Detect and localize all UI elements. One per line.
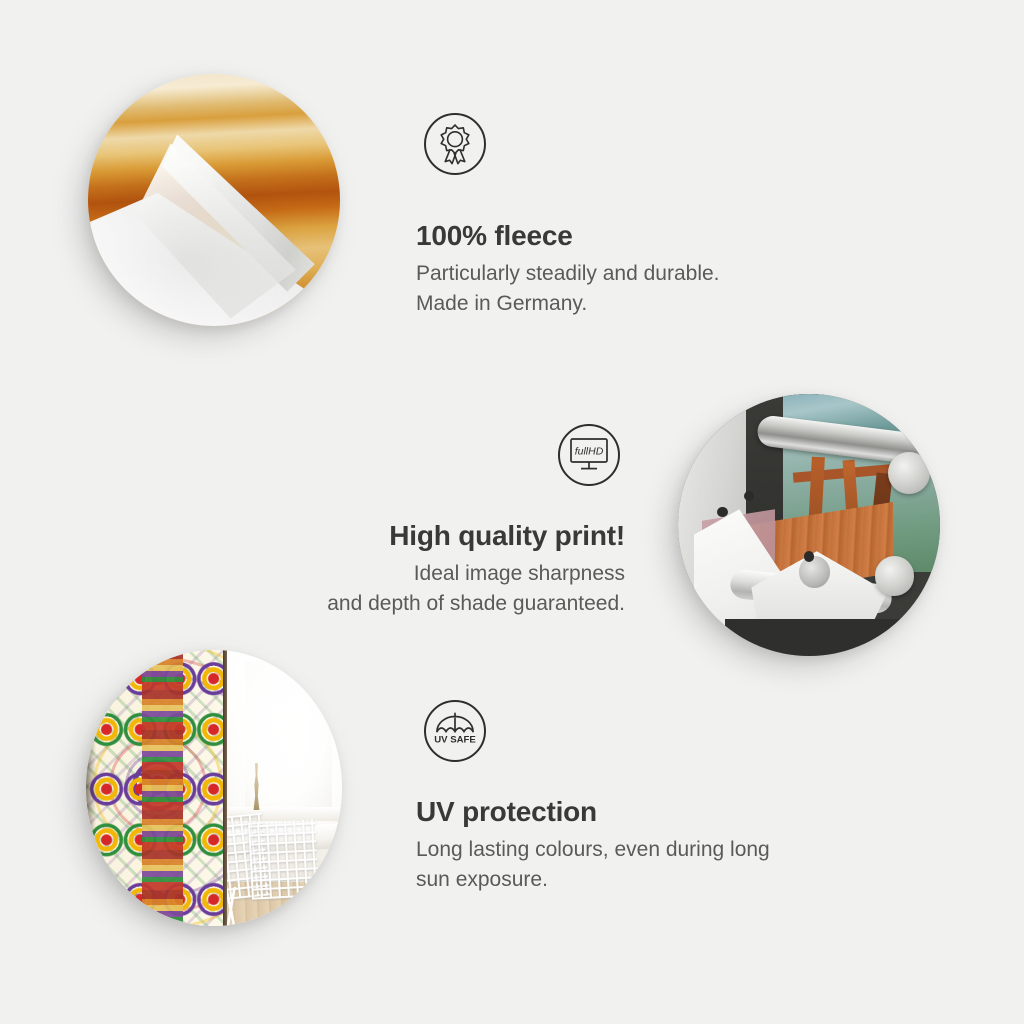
feature-print: High quality print! Ideal image sharpnes… <box>215 520 625 619</box>
feature-uv-body-line2: sun exposure. <box>416 865 770 895</box>
feature-print-title: High quality print! <box>215 520 625 552</box>
printing-machine-photo <box>678 394 940 656</box>
printer-knob-3 <box>717 507 727 517</box>
printer-wheel-lower <box>875 556 914 595</box>
full-hd-monitor-icon-frame: fullHD <box>558 424 620 486</box>
mandala-center-column <box>142 650 183 926</box>
mandala-interior-image <box>86 650 342 926</box>
feature-fleece-body-line2: Made in Germany. <box>416 289 720 319</box>
printing-machine-image <box>678 394 940 656</box>
award-ribbon-icon <box>424 113 486 175</box>
feature-print-body-line1: Ideal image sharpness <box>215 559 625 589</box>
printer-wheel-upper <box>888 452 930 494</box>
full-hd-monitor-icon: fullHD <box>558 424 620 486</box>
peeling-wallpaper-photo <box>88 74 340 326</box>
feature-fleece: 100% fleece Particularly steadily and du… <box>416 220 720 319</box>
uv-safe-icon-label: UV SAFE <box>434 734 476 745</box>
feature-uv-body-line1: Long lasting colours, even during long <box>416 835 770 865</box>
award-ribbon-icon-frame <box>424 113 486 175</box>
infographic-canvas: 100% fleece Particularly steadily and du… <box>0 0 1024 1024</box>
feature-fleece-body-line1: Particularly steadily and durable. <box>416 259 720 289</box>
feature-fleece-title: 100% fleece <box>416 220 720 252</box>
printer-hub <box>799 556 830 587</box>
uv-safe-icon-frame: UV SAFE <box>424 700 486 762</box>
feature-print-body-line2: and depth of shade guaranteed. <box>215 589 625 619</box>
full-hd-icon-label: fullHD <box>575 446 604 458</box>
feature-uv-title: UV protection <box>416 796 770 828</box>
printer-knob-1 <box>804 551 814 561</box>
uv-safe-umbrella-icon: UV SAFE <box>424 700 486 762</box>
feature-uv: UV protection Long lasting colours, even… <box>416 796 770 895</box>
mandala-interior-photo <box>86 650 342 926</box>
wallpaper-shading <box>88 74 340 326</box>
peeling-wallpaper-image <box>88 74 340 326</box>
mandala-left-shadow <box>86 650 96 926</box>
printer-base-shadow <box>725 619 908 656</box>
mandala-mural-edge <box>223 650 227 926</box>
